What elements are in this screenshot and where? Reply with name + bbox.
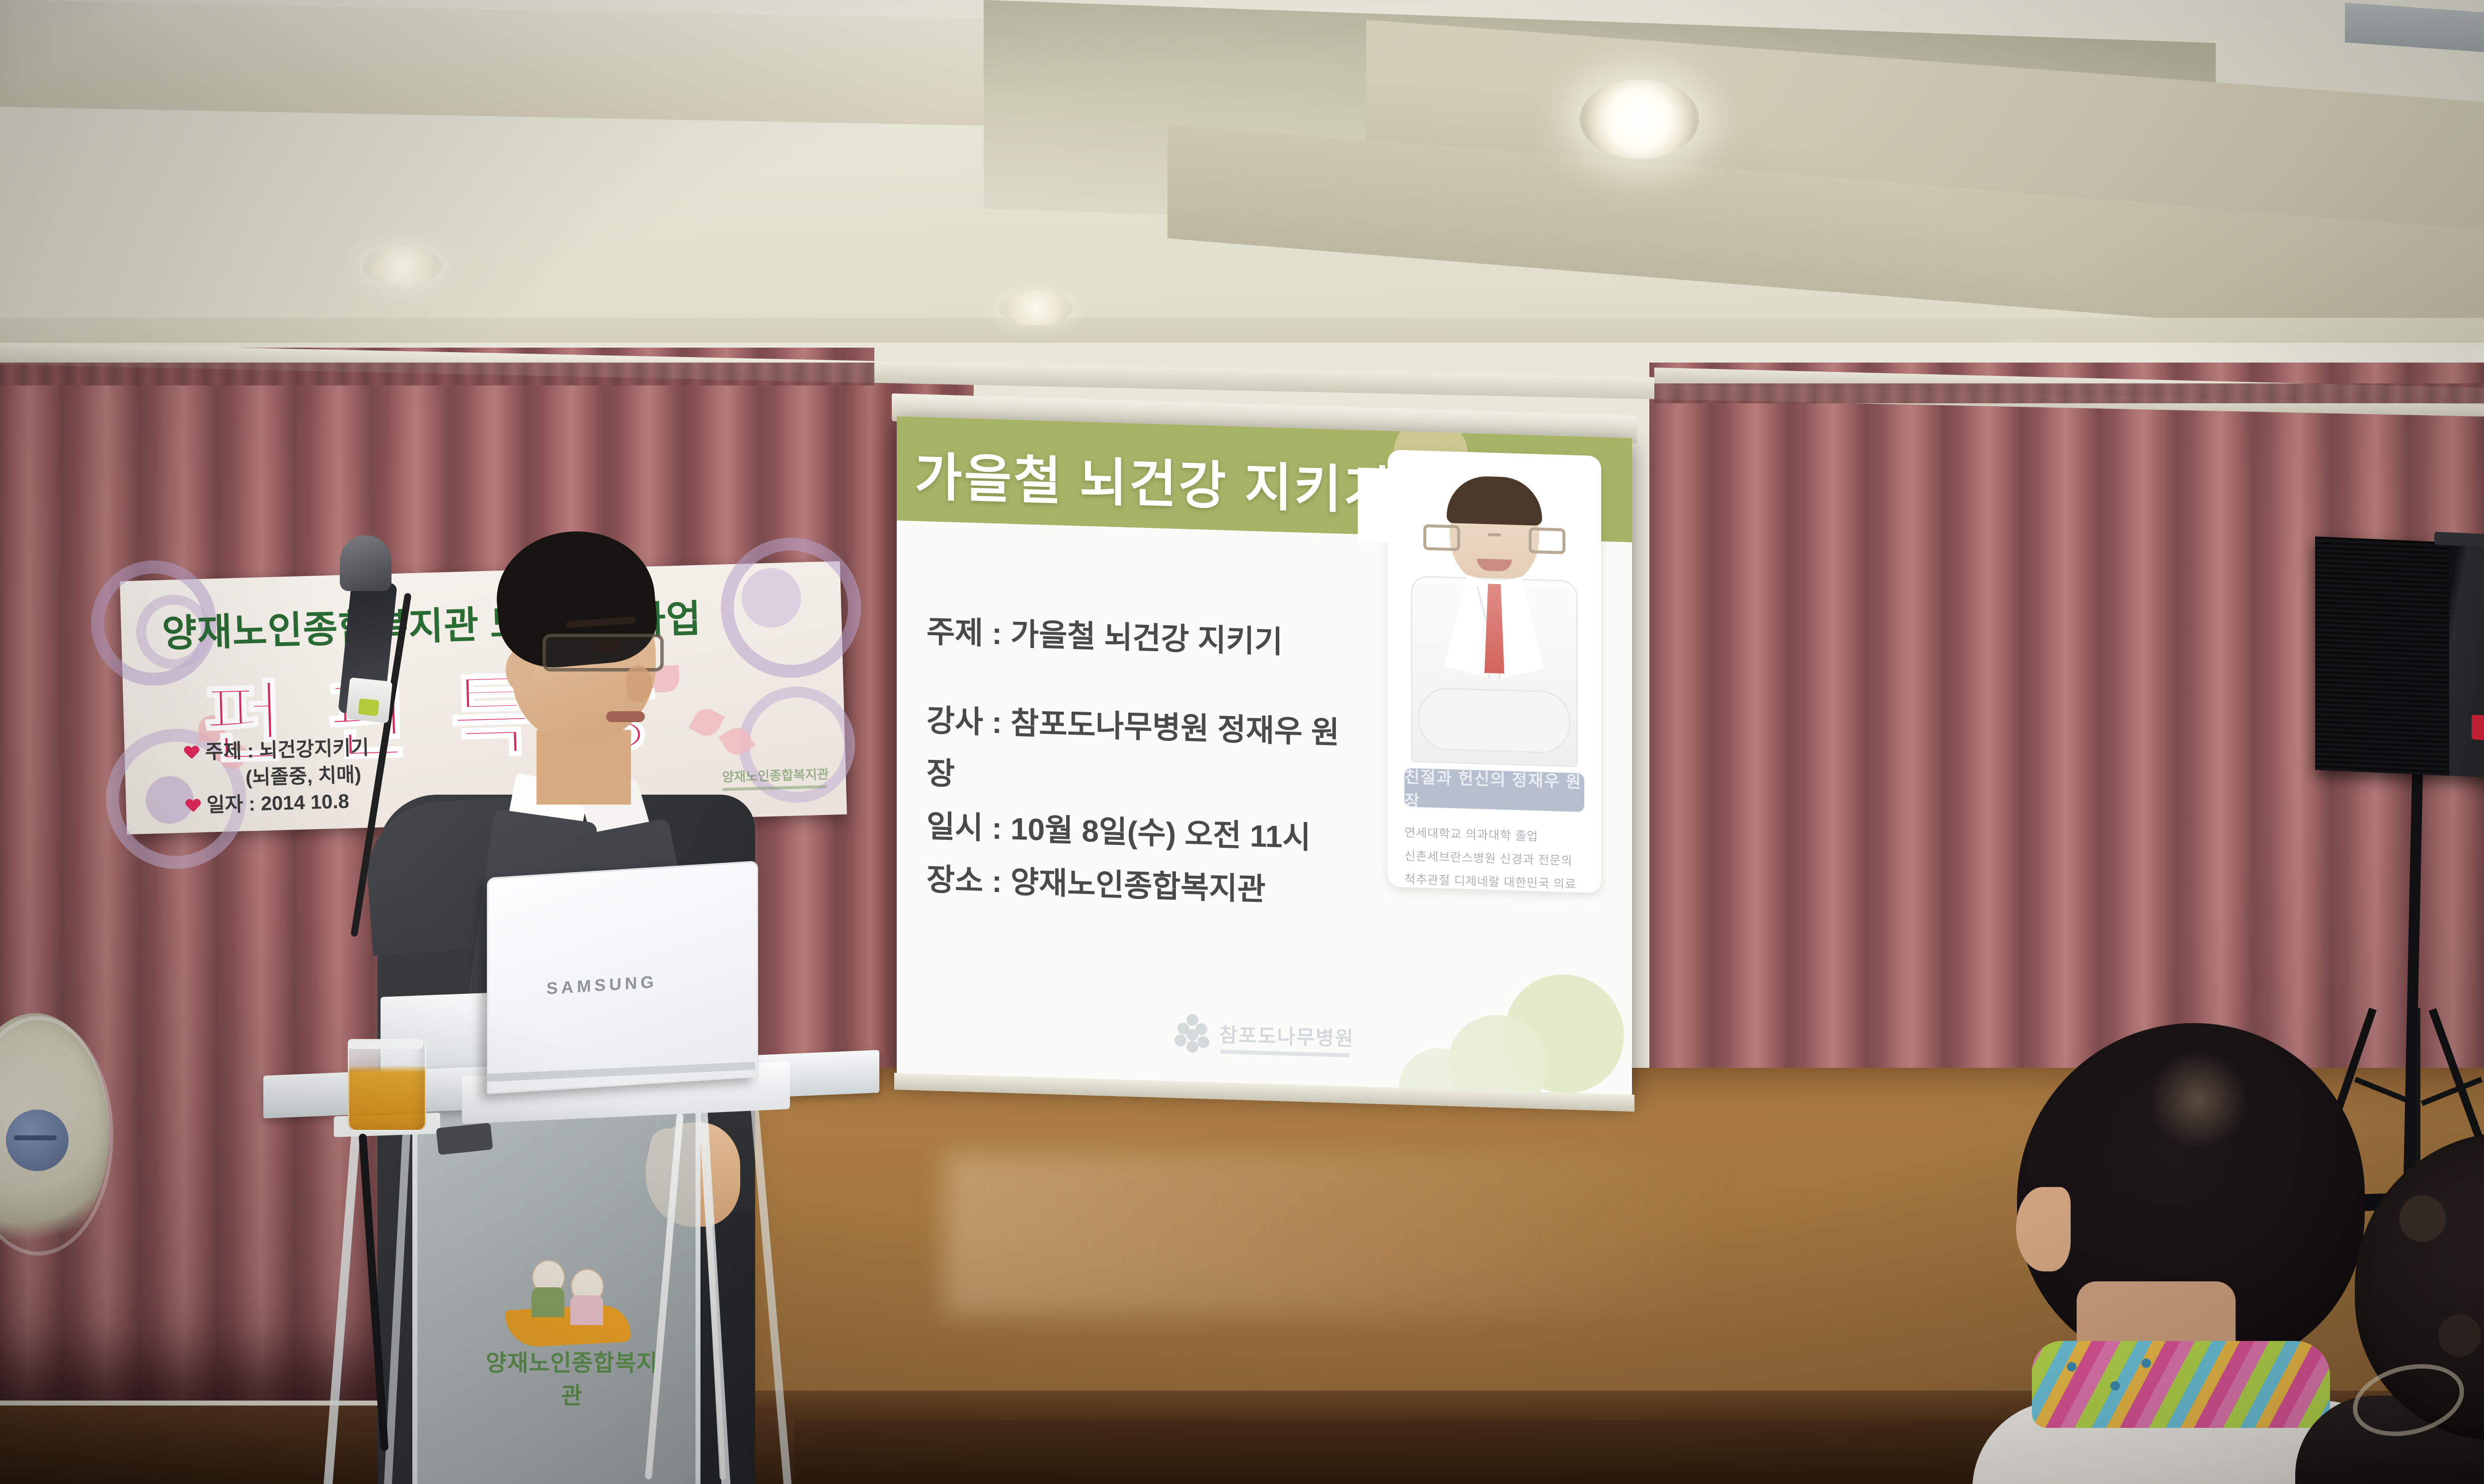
curtain-heading-left xyxy=(0,363,874,385)
presenter-neck xyxy=(537,730,631,805)
elderly-man-icon xyxy=(528,1260,569,1315)
banner-date-value: 2014 10.8 xyxy=(260,791,349,815)
lectern-leg xyxy=(751,1108,792,1484)
ceiling-downlight-icon xyxy=(1580,79,1699,159)
projection-screen: 가을철 뇌건강 지키기 주제 : 가을철 뇌건강 지키기 강사 : 참포도나무병… xyxy=(897,416,1632,1099)
doctor-hair xyxy=(1447,475,1542,526)
curtain-heading-right xyxy=(1654,383,2484,403)
grape-cluster-icon xyxy=(1174,1014,1211,1051)
presenter-nose xyxy=(626,666,652,702)
speaker-grille xyxy=(2315,536,2449,776)
glasses-bridge xyxy=(1488,533,1501,536)
fan-hub xyxy=(6,1110,69,1171)
audience-front-right xyxy=(2355,1132,2484,1484)
doctor-portrait xyxy=(1412,478,1576,761)
hospital-logo-text: 참포도나무병원 xyxy=(1219,1019,1354,1051)
audience-scarf-pattern xyxy=(2047,1349,2171,1409)
slide-body-text: 주제 : 가을철 뇌건강 지키기 강사 : 참포도나무병원 정재우 원장 일시 … xyxy=(927,606,1364,919)
cable-plug xyxy=(436,1122,493,1155)
doctor-name-bar: 친절과 헌신의 정재우 원장 xyxy=(1404,768,1584,812)
icon-body xyxy=(570,1295,603,1325)
banner-subject-value2: (뇌졸중, 치매) xyxy=(245,764,362,789)
elderly-woman-icon xyxy=(566,1268,608,1322)
banner-subject-label: 주제 : xyxy=(205,740,254,763)
audience-ear xyxy=(2016,1187,2071,1271)
glasses-icon xyxy=(1529,527,1565,554)
microphone-led xyxy=(358,698,379,716)
projected-slide: 가을철 뇌건강 지키기 주제 : 가을철 뇌건강 지키기 강사 : 참포도나무병… xyxy=(897,416,1632,1099)
fan-hub-detail xyxy=(14,1135,57,1140)
doctor-folded-arms xyxy=(1418,687,1570,754)
lectern-logo: 양재노인종합복지관 xyxy=(497,1247,646,1371)
doctor-name-text: 친절과 헌신의 정재우 원장 xyxy=(1404,763,1584,816)
heart-icon xyxy=(185,799,201,814)
lectern-leg xyxy=(322,1108,362,1484)
glasses-icon xyxy=(543,634,664,671)
presenter-eye xyxy=(592,642,621,653)
slide-line-speaker: 강사 : 참포도나무병원 정재우 원장 xyxy=(927,694,1364,813)
tea-cup[interactable] xyxy=(348,1041,426,1131)
lectern-leg xyxy=(383,1108,411,1484)
slide-title: 가을철 뇌건강 지키기 xyxy=(915,435,1393,524)
heart-icon xyxy=(184,746,200,760)
ceiling-downlight-icon xyxy=(999,291,1073,325)
doctor-credentials: 연세대학교 의과대학 졸업 신촌세브란스병원 신경과 전문의 척추관절 디제네랄… xyxy=(1404,821,1587,896)
doctor-profile-card: 친절과 헌신의 정재우 원장 연세대학교 의과대학 졸업 신촌세브란스병원 신경… xyxy=(1388,449,1601,893)
speaker-brand-badge xyxy=(2472,715,2484,741)
banner-date-label: 일자 : xyxy=(206,793,255,816)
pa-speaker xyxy=(2315,536,2484,780)
glasses-icon xyxy=(1423,524,1460,551)
microphone-icon[interactable] xyxy=(340,535,391,591)
banner-date-row: 일자 : 2014 10.8 xyxy=(185,788,371,820)
banner-detail-lines: 주제 : 뇌건강지키기 (뇌졸중, 치매) 일자 : 2014 10.8 xyxy=(184,735,371,820)
hospital-logo: 참포도나무병원 xyxy=(1174,1014,1354,1056)
ceiling-downlight-icon xyxy=(363,246,442,287)
electric-fan[interactable] xyxy=(0,1013,124,1291)
lecture-hall-photo: 가을철 뇌건강 지키기 주제 : 가을철 뇌건강 지키기 강사 : 참포도나무병… xyxy=(0,0,2484,1484)
presenter-mouth xyxy=(606,711,645,722)
tea-cup-rim xyxy=(348,1039,423,1049)
icon-body xyxy=(532,1287,564,1317)
audience-hair-highlight xyxy=(2146,1053,2251,1147)
lectern-logo-text: 양재노인종합복지관 xyxy=(485,1345,659,1410)
